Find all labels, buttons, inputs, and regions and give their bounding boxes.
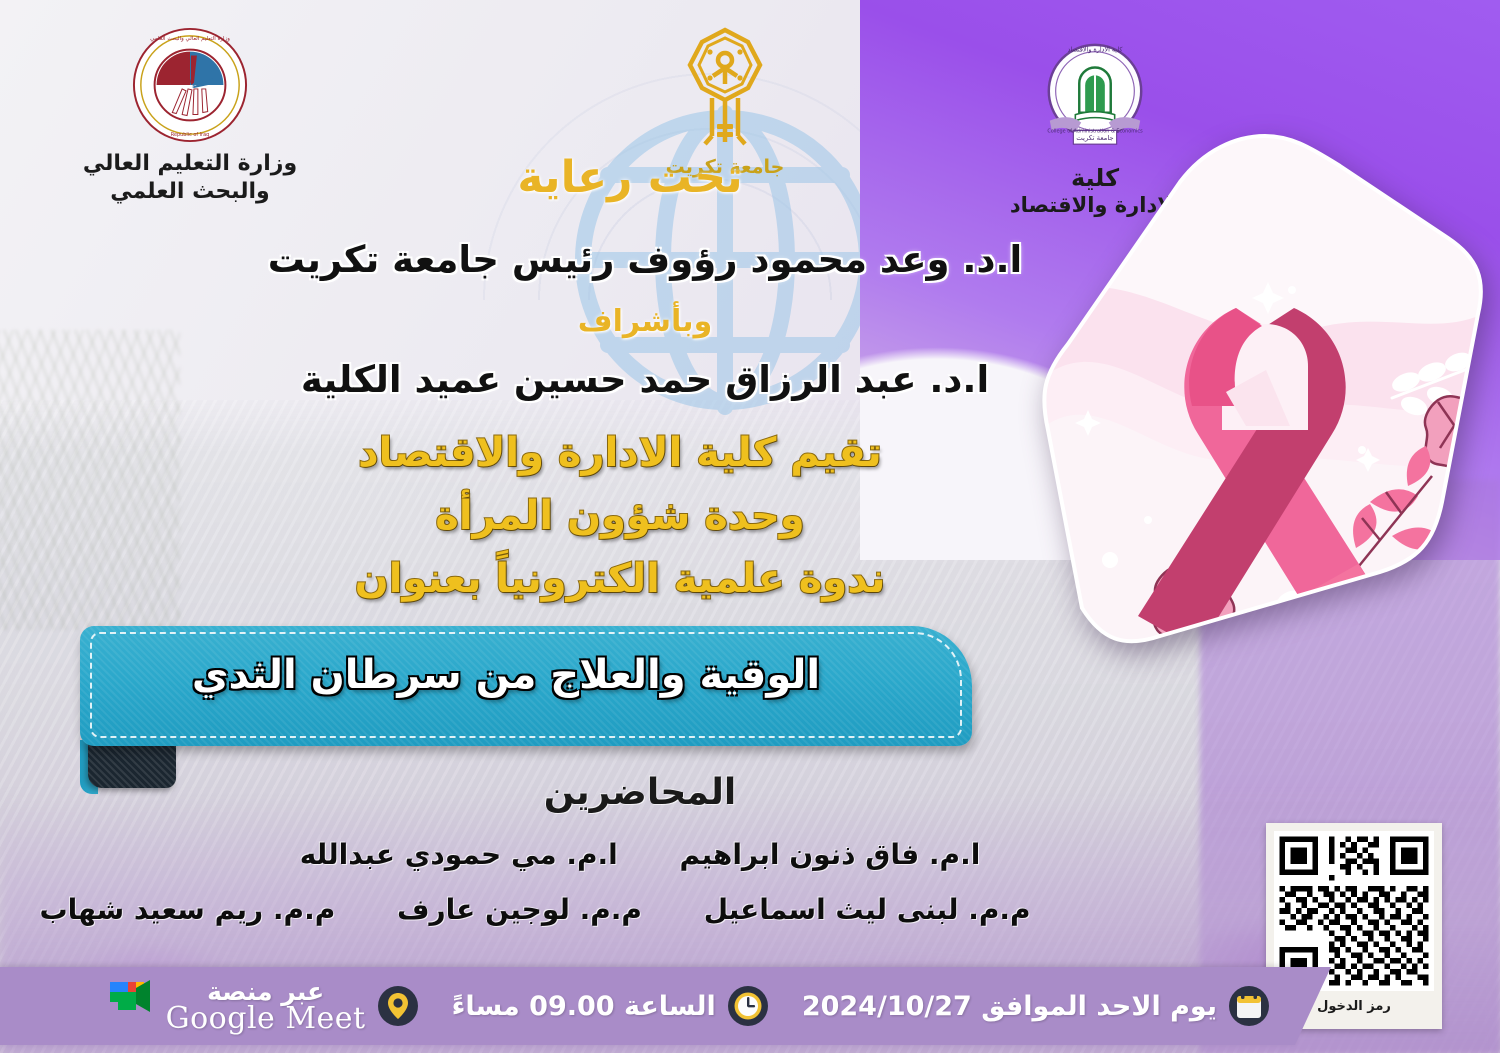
svg-text:Republic of Iraq: Republic of Iraq (171, 132, 209, 138)
footer-time-text: الساعة 09.00 مساءً (452, 991, 716, 1022)
lecturer-name: م.م. ريم سعيد شهاب (39, 893, 335, 926)
footer-time-item: الساعة 09.00 مساءً (436, 984, 786, 1028)
clock-icon (726, 984, 770, 1028)
university-caption: جامعة تكريت (610, 156, 840, 180)
lecturer-name: ا.م. مي حمودي عبدالله (300, 838, 618, 871)
tikrit-university-emblem-icon (672, 24, 778, 150)
poster-canvas: وزارة التعليم العالي والبحث العلمي Repub… (0, 0, 1500, 1053)
footer-platform-text: عبر منصة Google Meet (166, 979, 366, 1034)
lecturer-name: ا.م. فاق ذنون ابراهيم (680, 838, 981, 871)
lecturers-row-2: م.م. لبنى ليث اسماعيل م.م. لوجين عارف م.… (0, 893, 1285, 926)
iraq-ministry-seal-icon: وزارة التعليم العالي والبحث العلمي Repub… (131, 26, 249, 144)
location-pin-icon (376, 984, 420, 1028)
lecturer-name: م.م. لبنى ليث اسماعيل (704, 893, 1031, 926)
calendar-icon (1227, 984, 1271, 1028)
svg-text:وزارة التعليم العالي والبحث ال: وزارة التعليم العالي والبحث العلمي (150, 36, 230, 42)
pink-awareness-ribbon-illustration (1040, 130, 1490, 710)
seminar-title: الوقية والعلاج من سرطان الثدي (60, 652, 952, 698)
footer-date-text: يوم الاحد الموافق 2024/10/27 (802, 991, 1217, 1022)
lecturers-heading: المحاضرين (0, 772, 1390, 813)
lecturer-name: م.م. لوجين عارف (397, 893, 642, 926)
platform-label-ar: عبر منصة (207, 979, 324, 1004)
ministry-logo-block: وزارة التعليم العالي والبحث العلمي Repub… (60, 26, 320, 205)
university-logo-block: جامعة تكريت (610, 24, 840, 180)
footer-date-item: يوم الاحد الموافق 2024/10/27 (786, 984, 1287, 1028)
google-meet-logo-icon (102, 974, 156, 1018)
seminar-title-banner: الوقية والعلاج من سرطان الثدي (70, 622, 985, 782)
footer-bar: يوم الاحد الموافق 2024/10/27 الساعة 09.0… (0, 967, 1295, 1045)
ministry-caption-line1: وزارة التعليم العالي (60, 150, 320, 178)
banner-body: الوقية والعلاج من سرطان الثدي (80, 626, 972, 746)
ministry-caption-line2: والبحث العلمي (60, 178, 320, 206)
svg-text:كلية الادارة والاقتصاد: كلية الادارة والاقتصاد (1068, 46, 1124, 54)
lecturers-row-1: ا.م. فاق ذنون ابراهيم ا.م. مي حمودي عبدا… (0, 838, 1390, 871)
platform-label-en: Google Meet (166, 1004, 366, 1034)
footer-platform-item: عبر منصة Google Meet (86, 979, 436, 1034)
